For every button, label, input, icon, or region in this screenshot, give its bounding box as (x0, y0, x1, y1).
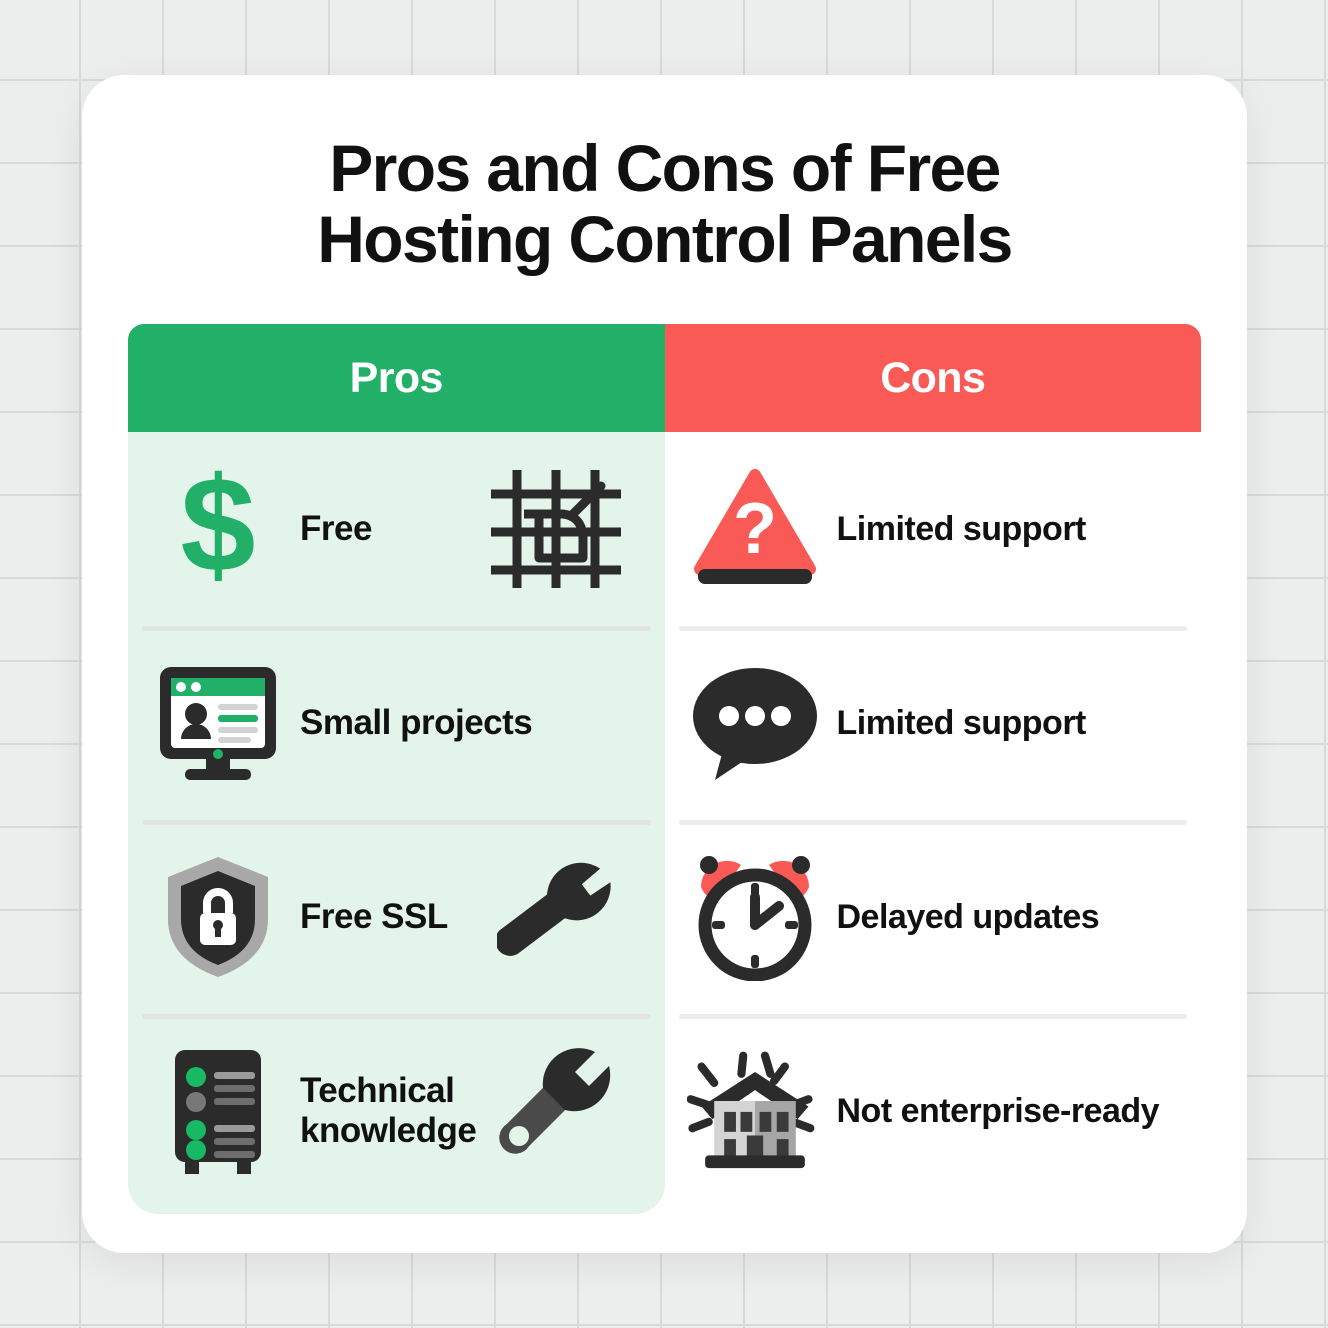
table-row-label: Limited support (823, 704, 1086, 743)
table-row: Limited support (665, 626, 1202, 820)
table-row: $ Free (128, 432, 665, 626)
server-rack-icon (150, 1044, 286, 1178)
svg-text:$: $ (180, 467, 255, 592)
table-row: Free SSL (128, 820, 665, 1014)
table-row-label: Free SSL (286, 897, 448, 937)
table-row-label: Limited support (823, 510, 1086, 549)
table-row: Small projects (128, 626, 665, 820)
speech-bubble-icon (687, 662, 823, 784)
pros-cons-table: Pros $ Free (128, 324, 1201, 1214)
cons-rows: ? Limited support (665, 432, 1202, 1214)
svg-text:?: ? (733, 489, 777, 569)
pros-rows: $ Free (128, 432, 665, 1214)
cons-column-header: Cons (665, 324, 1202, 432)
table-row: Not enterprise-ready (665, 1014, 1202, 1208)
page-title: Pros and Cons of Free Hosting Control Pa… (82, 133, 1247, 274)
dollar-sign-icon: $ (150, 467, 286, 592)
office-building-icon (687, 1044, 823, 1178)
infographic-card: Pros and Cons of Free Hosting Control Pa… (82, 75, 1247, 1253)
grid-chart-icon (481, 464, 631, 594)
table-row-label: Not enterprise-ready (823, 1092, 1160, 1131)
table-row: ? Limited support (665, 432, 1202, 626)
wrench-icon (481, 1046, 631, 1176)
table-row: Delayed updates (665, 820, 1202, 1014)
monitor-dashboard-icon (150, 663, 286, 783)
alarm-clock-icon (687, 853, 823, 981)
wrench-icon (481, 852, 631, 982)
table-row-label: Delayed updates (823, 898, 1100, 937)
shield-lock-icon (150, 853, 286, 981)
warning-question-icon: ? (687, 469, 823, 589)
table-row: Technical knowledge (128, 1014, 665, 1208)
page-title-line-1: Pros and Cons of Free (142, 133, 1187, 204)
table-row-label: Free (286, 509, 372, 549)
page-title-line-2: Hosting Control Panels (142, 204, 1187, 275)
cons-column: Cons ? Limited support (665, 324, 1202, 1214)
pros-column: Pros $ Free (128, 324, 665, 1214)
table-row-label: Small projects (286, 703, 532, 743)
pros-column-header: Pros (128, 324, 665, 432)
